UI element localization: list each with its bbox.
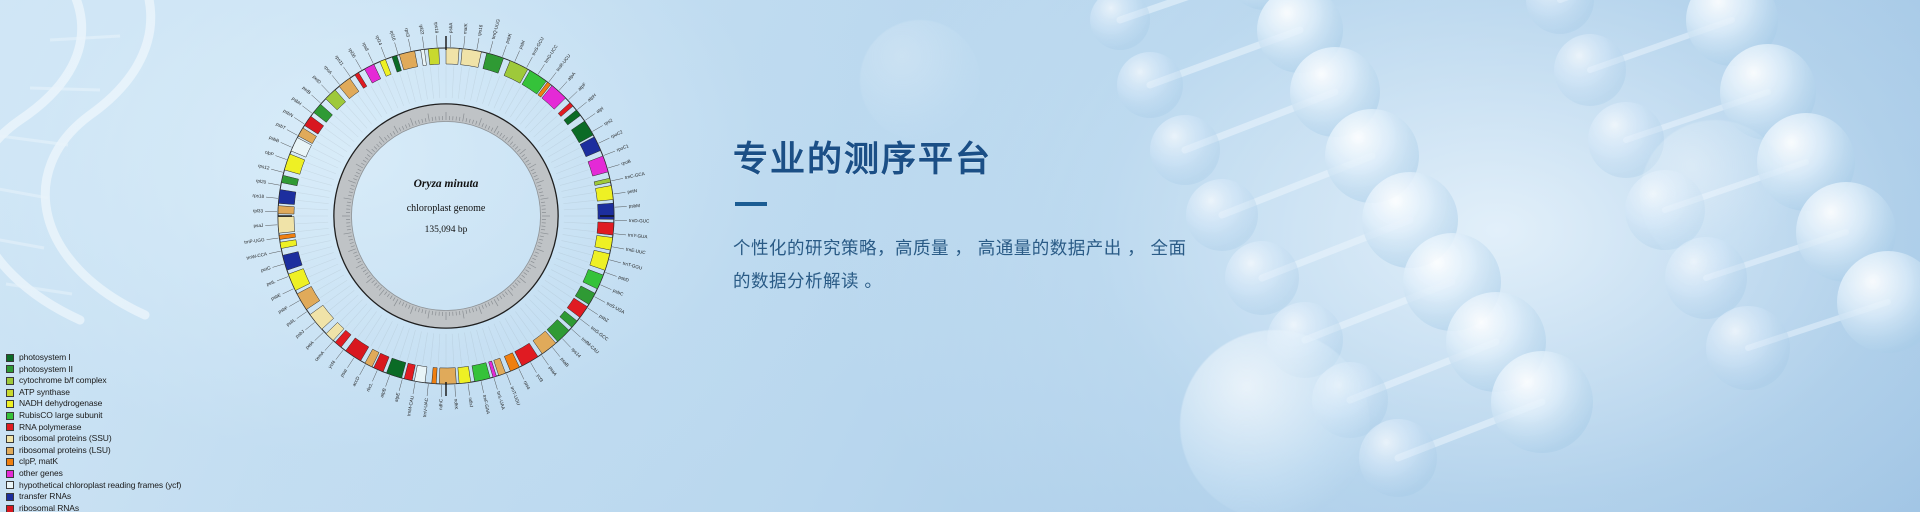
gene-leader-line xyxy=(531,362,537,372)
legend-item-label: photosystem I xyxy=(19,352,71,364)
gene-leader-line xyxy=(515,51,520,62)
gene-leader-line xyxy=(372,370,377,381)
gene-feature-block xyxy=(365,64,381,83)
gene-leader-line xyxy=(302,106,312,113)
gene-leader-line xyxy=(267,238,279,240)
gene-label: rps3 xyxy=(404,28,411,38)
legend-color-swatch xyxy=(6,435,14,443)
gene-label: rps4 xyxy=(523,380,532,391)
gene-feature-block xyxy=(346,338,369,361)
gene-label: ycf4 xyxy=(327,359,336,369)
gene-feature-block xyxy=(280,240,297,249)
gene-feature-block xyxy=(314,104,333,122)
gene-label: accD xyxy=(351,375,361,387)
gene-feature-block xyxy=(339,78,359,98)
gene-leader-line xyxy=(315,332,324,340)
legend-color-swatch xyxy=(6,423,14,431)
gene-leader-line xyxy=(356,59,362,69)
gene-label: rpl16 xyxy=(389,30,397,42)
legend-item-label: ATP synthase xyxy=(19,387,70,399)
gene-leader-line xyxy=(386,375,390,386)
gene-feature-block xyxy=(399,51,417,70)
gene-label: rpl22 xyxy=(419,24,425,35)
sequencing-platform-banner: psbAmatKrps16trnQ-UUGpsbKpsbItrnS-GCUtrn… xyxy=(0,0,1920,512)
legend-color-swatch xyxy=(6,365,14,373)
gene-leader-line xyxy=(599,138,610,143)
gene-feature-block xyxy=(446,48,459,64)
gene-label: ndhC xyxy=(438,398,443,410)
gene-leader-line xyxy=(297,312,307,319)
gene-feature-block xyxy=(284,154,304,174)
gene-feature-block xyxy=(421,49,427,65)
legend-item-label: ribosomal proteins (LSU) xyxy=(19,445,111,457)
gene-leader-line xyxy=(275,156,286,160)
gene-label: rps11 xyxy=(334,54,345,66)
legend-color-swatch xyxy=(6,493,14,501)
gene-label: psaI xyxy=(339,368,348,378)
legend-color-swatch xyxy=(6,354,14,362)
legend-item-label: NADH dehydrogenase xyxy=(19,398,102,410)
gene-label: psaA xyxy=(548,365,559,377)
gene-leader-line xyxy=(395,42,398,54)
gene-label: psbK xyxy=(504,32,513,44)
gene-label: ycf3 xyxy=(536,373,545,383)
gene-leader-line xyxy=(580,319,590,326)
gene-label: matK xyxy=(462,22,468,34)
gene-leader-line xyxy=(605,272,616,276)
gene-label: atpE xyxy=(394,392,401,402)
legend-item-label: ribosomal RNAs xyxy=(19,503,79,512)
gene-feature-block xyxy=(326,90,346,110)
gene-label: rps12 xyxy=(258,163,271,171)
legend-item: ribosomal proteins (SSU) xyxy=(6,433,181,445)
legend-item-label: cytochrome b/f complex xyxy=(19,375,107,387)
gene-leader-line xyxy=(399,379,402,391)
legend-item: hypothetical chloroplast reading frames … xyxy=(6,480,181,492)
gene-label: trnE-UUC xyxy=(626,247,647,256)
gene-leader-line xyxy=(464,36,465,48)
legend-item-label: other genes xyxy=(19,468,63,480)
gene-leader-line xyxy=(455,385,456,397)
bokeh-circle xyxy=(1180,330,1370,512)
chloroplast-genome-map: psbAmatKrps16trnQ-UUGpsbKpsbItrnS-GCUtrn… xyxy=(236,6,656,426)
gene-label: psaB xyxy=(559,356,569,367)
legend-color-swatch xyxy=(6,481,14,489)
gene-label: psbZ xyxy=(598,313,609,323)
gene-label: atpF xyxy=(577,82,587,92)
bokeh-circle xyxy=(1640,120,1790,270)
gene-label: trnT-GGU xyxy=(622,261,643,271)
gene-label: petB xyxy=(301,85,311,95)
gene-leader-line xyxy=(325,342,333,351)
gene-leader-line xyxy=(408,39,410,51)
gene-label: rps8 xyxy=(361,42,370,53)
gene-feature-block xyxy=(564,110,581,125)
legend-item-label: transfer RNAs xyxy=(19,491,71,503)
genome-species-name: Oryza minuta xyxy=(236,178,656,190)
gene-feature-block xyxy=(288,269,309,291)
gene-label: petD xyxy=(312,74,323,85)
gene-feature-block xyxy=(380,59,391,76)
legend-item: clpP, matK xyxy=(6,456,181,468)
gene-leader-line xyxy=(562,339,570,348)
gene-label: psbN xyxy=(282,108,294,118)
legend-item: photosystem II xyxy=(6,364,181,376)
gene-leader-line xyxy=(277,277,288,281)
gene-leader-line xyxy=(427,384,428,396)
gene-leader-line xyxy=(494,378,497,390)
gene-label: psbL xyxy=(285,317,296,327)
gene-leader-line xyxy=(422,37,424,49)
gene-leader-line xyxy=(281,142,292,147)
gene-label: psbT xyxy=(275,121,287,130)
gene-leader-line xyxy=(413,382,415,394)
gene-leader-line xyxy=(360,365,366,376)
gene-leader-line xyxy=(538,64,545,74)
gene-feature-block xyxy=(461,49,482,68)
gene-label: psbI xyxy=(518,40,526,50)
banner-description: 个性化的研究策略，高质量 ， 高通量的数据产出 ， 全面 的数据分析解读 。 xyxy=(733,232,1263,297)
gene-label: trnV-UAC xyxy=(422,397,429,417)
gene-feature-block xyxy=(472,363,490,382)
gene-label: rps2 xyxy=(603,117,614,126)
gene-leader-line xyxy=(588,308,598,315)
gene-feature-block xyxy=(386,358,405,378)
gene-label: rpoB xyxy=(621,159,632,167)
legend-item: RNA polymerase xyxy=(6,422,181,434)
gene-leader-line xyxy=(604,151,615,155)
gene-leader-line xyxy=(552,347,560,356)
gene-label: rps14 xyxy=(570,347,582,359)
gene-label: clpP xyxy=(264,149,274,157)
gene-leader-line xyxy=(585,113,595,120)
gene-feature-block xyxy=(355,73,367,89)
legend-color-swatch xyxy=(6,400,14,408)
gene-leader-line xyxy=(368,53,373,64)
gene-leader-line xyxy=(271,169,283,172)
gene-feature-block xyxy=(428,48,439,65)
gene-leader-line xyxy=(336,350,343,360)
gene-leader-line xyxy=(519,369,524,380)
gene-feature-block xyxy=(414,365,427,382)
gene-leader-line xyxy=(569,91,578,99)
gene-leader-line xyxy=(477,38,479,50)
gene-label: rbcL xyxy=(365,382,373,393)
gene-label: petA xyxy=(304,339,315,350)
gene-leader-line xyxy=(332,75,340,84)
genome-length: 135,094 bp xyxy=(236,225,656,235)
gene-leader-line xyxy=(612,247,624,249)
legend-item-label: photosystem II xyxy=(19,364,73,376)
gene-feature-block xyxy=(588,156,608,176)
gene-label: trnT-UGU xyxy=(510,386,522,406)
gene-label: atpA xyxy=(566,70,577,81)
gene-leader-line xyxy=(294,117,304,124)
gene-label: trnfM-CAU xyxy=(581,336,600,354)
legend-color-swatch xyxy=(6,389,14,397)
gene-leader-line xyxy=(609,260,621,263)
gene-label: atpH xyxy=(586,93,597,103)
legend-color-swatch xyxy=(6,447,14,455)
legend-color-swatch xyxy=(6,458,14,466)
gene-label: ndhJ xyxy=(468,397,474,408)
gene-label: psbB xyxy=(268,135,280,144)
gene-feature-block xyxy=(404,363,415,380)
gene-leader-line xyxy=(608,165,620,168)
gene-leader-line xyxy=(559,81,567,90)
gene-leader-line xyxy=(381,47,385,58)
gene-label: psbJ xyxy=(294,329,305,339)
gene-label: petL xyxy=(266,279,277,287)
gene-leader-line xyxy=(269,251,281,253)
gene-label: ndhK xyxy=(453,399,459,411)
gene-leader-line xyxy=(600,285,611,290)
gene-label: psbH xyxy=(291,96,303,107)
gene-label: psbD xyxy=(618,274,630,283)
legend-item: cytochrome b/f complex xyxy=(6,375,181,387)
legend-color-swatch xyxy=(6,470,14,478)
legend-item: RubisCO large subunit xyxy=(6,410,181,422)
gene-label: trnR-UCU xyxy=(555,53,571,72)
gene-label: rpoA xyxy=(323,64,334,75)
gene-leader-line xyxy=(305,322,314,330)
legend-item-label: ribosomal proteins (SSU) xyxy=(19,433,112,445)
gene-leader-line xyxy=(468,384,470,396)
legend-item: ribosomal proteins (LSU) xyxy=(6,445,181,457)
legend-item-label: hypothetical chloroplast reading frames … xyxy=(19,480,181,492)
gene-label: rpoC1 xyxy=(616,143,630,152)
gene-label: atpI xyxy=(595,106,604,114)
banner-copy: 专业的测序平台 个性化的研究策略，高质量 ， 高通量的数据产出 ， 全面 的数据… xyxy=(733,140,1293,297)
gene-label: trnS-GCU xyxy=(531,36,545,56)
gene-feature-block xyxy=(504,61,528,84)
gene-label: psbE xyxy=(270,292,282,301)
gene-label: trnW-CCA xyxy=(246,251,268,260)
gene-label: trnM-CAU xyxy=(406,395,415,416)
gene-leader-line xyxy=(347,358,354,368)
gene-feature-block xyxy=(583,269,603,288)
gene-leader-line xyxy=(595,297,606,303)
bokeh-circle xyxy=(860,20,980,140)
gene-leader-line xyxy=(481,381,483,393)
gene-feature-block xyxy=(432,367,437,383)
legend-color-swatch xyxy=(6,377,14,385)
gene-feature-block xyxy=(590,250,610,270)
legend-item: ATP synthase xyxy=(6,387,181,399)
gene-feature-block xyxy=(297,286,320,309)
gene-label: psbF xyxy=(277,305,289,315)
gene-label: rpl14 xyxy=(375,35,383,47)
gene-leader-line xyxy=(542,355,549,365)
gene-leader-line xyxy=(437,35,438,47)
legend-item: NADH dehydrogenase xyxy=(6,398,181,410)
gene-label: petG xyxy=(260,265,271,273)
title-underline-rule xyxy=(735,202,767,206)
gene-leader-line xyxy=(272,264,284,267)
legend-item: ribosomal RNAs xyxy=(6,503,181,512)
gene-label: trnF-GAA xyxy=(482,394,491,415)
legend-item: photosystem I xyxy=(6,352,181,364)
genome-subtitle: chloroplast genome xyxy=(236,203,656,214)
banner-title: 专业的测序平台 xyxy=(733,140,1293,180)
gene-leader-line xyxy=(527,57,533,68)
gene-label: atpB xyxy=(379,388,387,399)
gene-label: rps16 xyxy=(477,24,484,37)
gene-label: rpoC2 xyxy=(610,129,624,139)
gene-label: psbA xyxy=(448,22,453,34)
gene-feature-block xyxy=(310,305,334,329)
gene-label: trnS-UGA xyxy=(606,301,627,315)
gene-label: trnG-GCC xyxy=(590,325,610,342)
gene-leader-line xyxy=(321,85,329,94)
gene-feature-block xyxy=(458,366,471,383)
gene-label: trnG-UCC xyxy=(543,43,559,63)
gene-leader-line xyxy=(283,289,294,294)
gene-label: trnP-UGG xyxy=(244,237,265,245)
gene-label: trnQ-UUG xyxy=(491,18,501,40)
genome-center-caption: Oryza minuta chloroplast genome 135,094 … xyxy=(236,178,656,235)
legend-item-label: RubisCO large subunit xyxy=(19,410,102,422)
gene-label: trnL-UAA xyxy=(496,391,506,411)
gene-feature-block xyxy=(595,235,613,250)
gene-label: rps19 xyxy=(434,22,440,34)
legend-item-label: RNA polymerase xyxy=(19,422,81,434)
legend-item: other genes xyxy=(6,468,181,480)
legend-color-swatch xyxy=(6,412,14,420)
gene-leader-line xyxy=(311,95,320,103)
gene-leader-line xyxy=(572,329,581,337)
gene-leader-line xyxy=(490,41,493,53)
legend-color-swatch xyxy=(6,505,14,512)
gene-leader-line xyxy=(507,374,511,385)
gene-label: psbC xyxy=(612,288,624,297)
gene-leader-line xyxy=(289,301,299,307)
genome-legend: photosystem Iphotosystem IIcytochrome b/… xyxy=(6,352,181,512)
gene-feature-block xyxy=(483,53,504,73)
gene-leader-line xyxy=(343,67,350,77)
gene-leader-line xyxy=(549,72,556,82)
gene-leader-line xyxy=(502,45,506,56)
gene-leader-line xyxy=(577,102,586,110)
gene-leader-line xyxy=(592,126,602,132)
gene-feature-block xyxy=(515,343,538,366)
gene-leader-line xyxy=(287,130,298,136)
gene-feature-block xyxy=(439,368,456,384)
legend-item-label: clpP, matK xyxy=(19,456,58,468)
legend-item: transfer RNAs xyxy=(6,491,181,503)
gene-label: cemA xyxy=(314,349,326,362)
gene-label: rpl36 xyxy=(347,47,357,59)
